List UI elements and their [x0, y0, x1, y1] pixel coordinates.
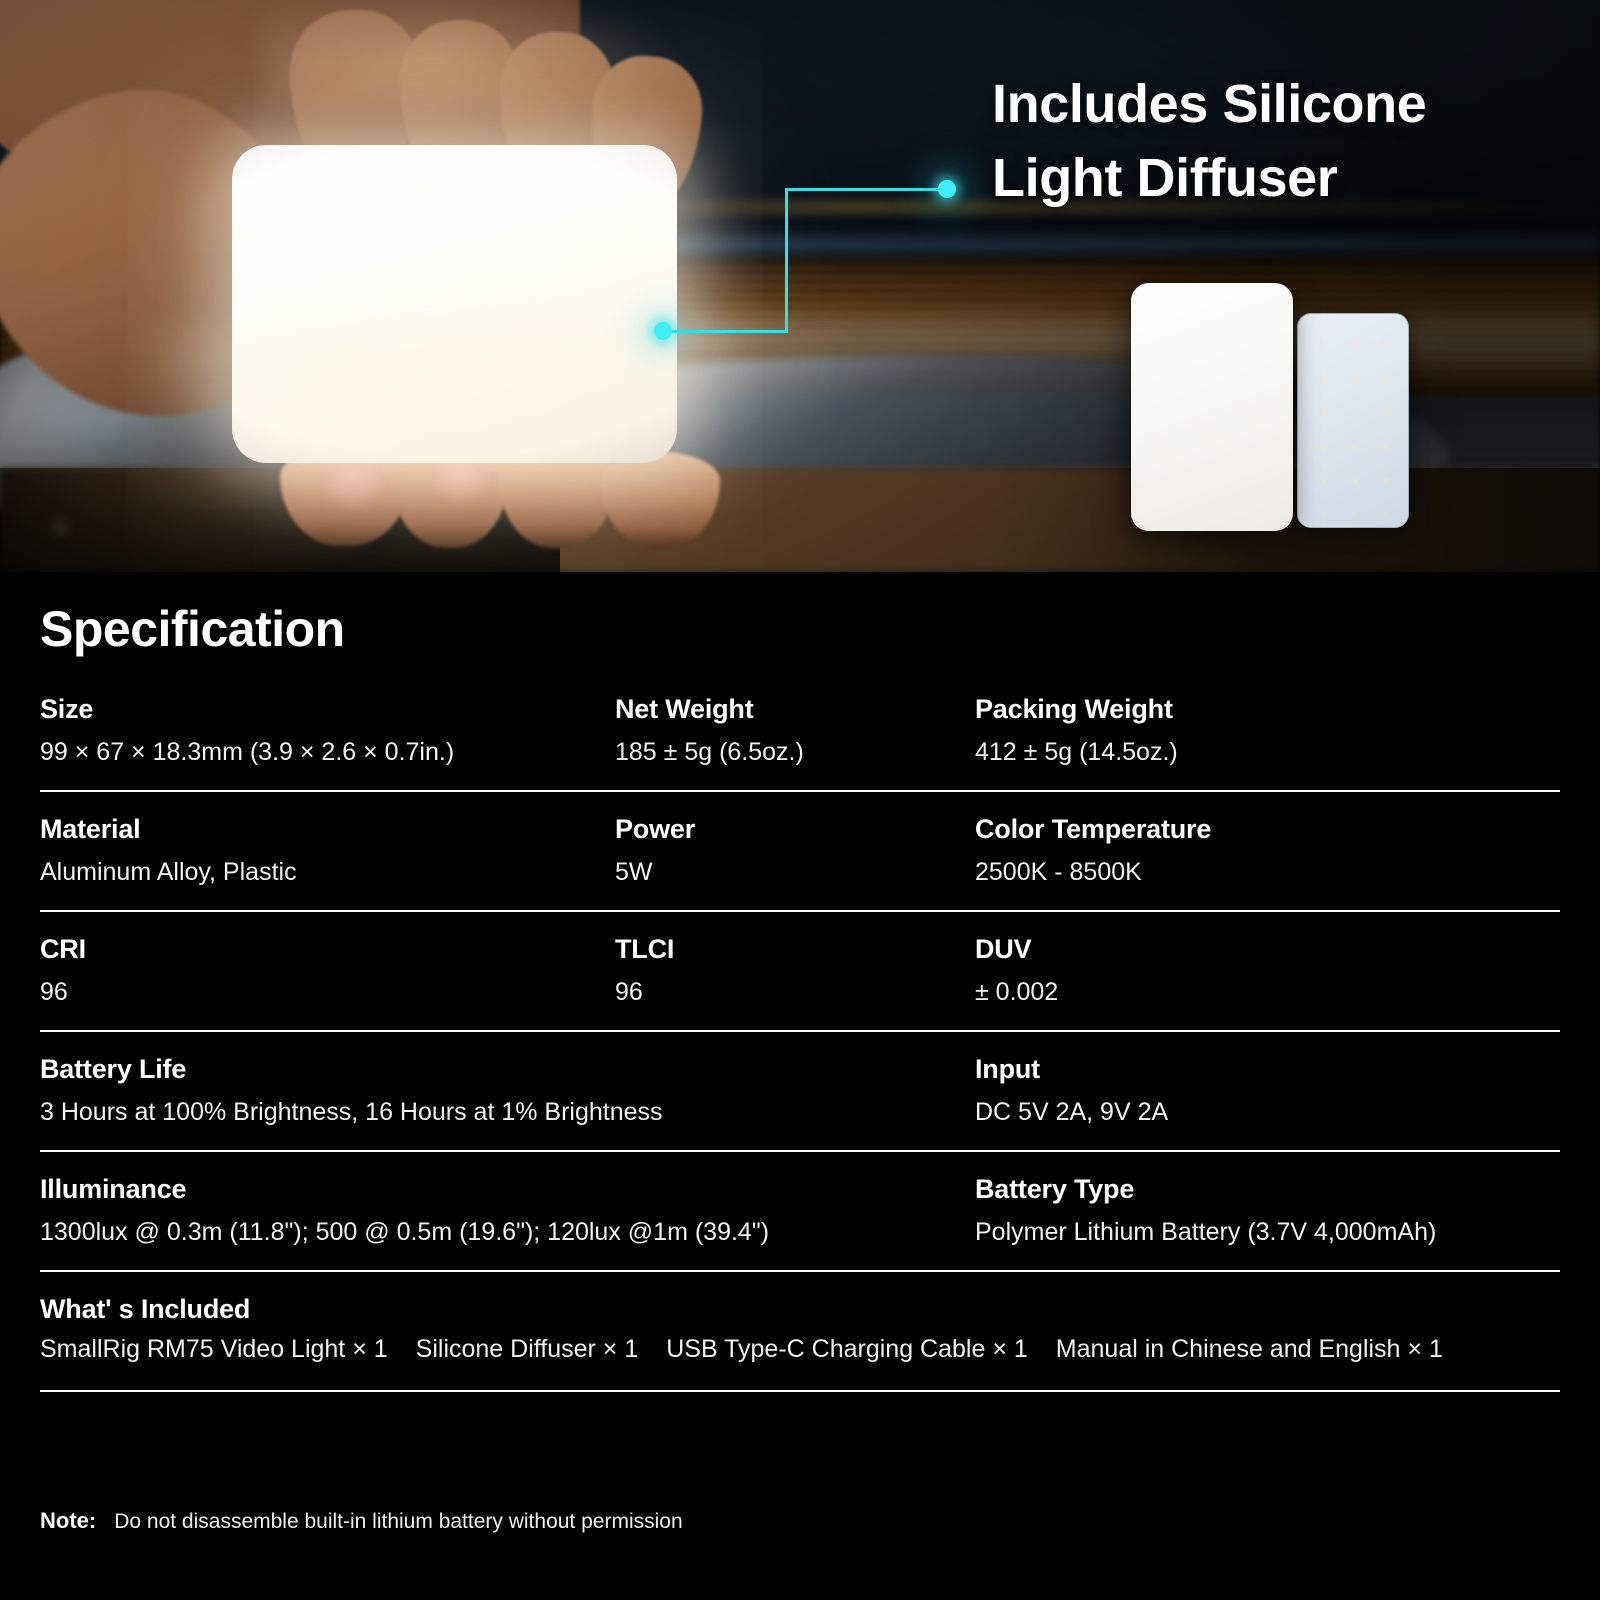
spec-cell: Net Weight 185 ± 5g (6.5oz.) — [615, 694, 804, 767]
spec-key: Power — [615, 814, 695, 845]
footnote-label: Note: — [40, 1508, 96, 1534]
spec-key: Battery Type — [975, 1174, 1436, 1205]
spec-key: TLCI — [615, 934, 674, 965]
led-array — [1306, 326, 1400, 515]
spec-key: Color Temperature — [975, 814, 1211, 845]
included-items-list: SmallRig RM75 Video Light × 1 Silicone D… — [40, 1335, 1443, 1364]
hand-highlight — [260, 0, 680, 110]
callout-line-horizontal-lower — [660, 330, 788, 333]
spec-cell: TLCI 96 — [615, 934, 674, 1007]
spec-key: Input — [975, 1054, 1168, 1085]
spec-value: 412 ± 5g (14.5oz.) — [975, 738, 1178, 767]
hero-headline-line-1: Includes Silicone — [992, 68, 1552, 142]
spec-key: Packing Weight — [975, 694, 1178, 725]
spec-value: 3 Hours at 100% Brightness, 16 Hours at … — [40, 1098, 663, 1127]
spec-key: CRI — [40, 934, 86, 965]
hero-headline-line-2: Light Diffuser — [992, 142, 1552, 216]
spec-value: ± 0.002 — [975, 978, 1058, 1007]
spec-key: What' s Included — [40, 1294, 250, 1325]
list-item: Silicone Diffuser × 1 — [416, 1335, 639, 1364]
table-row: Material Aluminum Alloy, Plastic Power 5… — [40, 814, 1560, 912]
spec-key: Size — [40, 694, 454, 725]
spec-cell: Illuminance 1300lux @ 0.3m (11.8"); 500 … — [40, 1174, 769, 1247]
led-light-panel — [1297, 313, 1409, 528]
spec-cell: What' s Included — [40, 1294, 250, 1325]
callout-dot-on-product-icon — [654, 322, 672, 340]
silicone-diffuser-panel — [1131, 283, 1293, 531]
footnote-text: Do not disassemble built-in lithium batt… — [114, 1510, 682, 1534]
specification-section: Specification Size 99 × 67 × 18.3mm (3.9… — [0, 572, 1600, 1600]
spec-key: DUV — [975, 934, 1058, 965]
spec-value: 99 × 67 × 18.3mm (3.9 × 2.6 × 0.7in.) — [40, 738, 454, 767]
spec-key: Battery Life — [40, 1054, 663, 1085]
fingernail — [430, 458, 496, 504]
product-spec-page: Includes Silicone Light Diffuser Specifi… — [0, 0, 1600, 1600]
spec-value: 185 ± 5g (6.5oz.) — [615, 738, 804, 767]
spec-value: 2500K - 8500K — [975, 858, 1211, 887]
callout-dot-at-label-icon — [938, 180, 956, 198]
spec-cell: DUV ± 0.002 — [975, 934, 1058, 1007]
spec-key: Net Weight — [615, 694, 804, 725]
video-light-with-diffuser — [232, 145, 677, 463]
spec-cell: Material Aluminum Alloy, Plastic — [40, 814, 297, 887]
spec-cell: Size 99 × 67 × 18.3mm (3.9 × 2.6 × 0.7in… — [40, 694, 454, 767]
callout-line-horizontal-upper — [785, 188, 947, 191]
spec-cell: Color Temperature 2500K - 8500K — [975, 814, 1211, 887]
spec-value: Aluminum Alloy, Plastic — [40, 858, 297, 887]
spec-cell: Battery Type Polymer Lithium Battery (3.… — [975, 1174, 1436, 1247]
spec-cell: Battery Life 3 Hours at 100% Brightness,… — [40, 1054, 663, 1127]
spec-cell: CRI 96 — [40, 934, 86, 1007]
spec-cell: Input DC 5V 2A, 9V 2A — [975, 1054, 1168, 1127]
table-row-whats-included: What' s Included SmallRig RM75 Video Lig… — [40, 1294, 1560, 1392]
table-row: Illuminance 1300lux @ 0.3m (11.8"); 500 … — [40, 1174, 1560, 1272]
spec-key: Material — [40, 814, 297, 845]
table-row: Size 99 × 67 × 18.3mm (3.9 × 2.6 × 0.7in… — [40, 694, 1560, 792]
footnote: Note: Do not disassemble built-in lithiu… — [40, 1508, 683, 1534]
fingernail — [320, 462, 390, 510]
list-item: USB Type-C Charging Cable × 1 — [666, 1335, 1028, 1364]
specification-table: Size 99 × 67 × 18.3mm (3.9 × 2.6 × 0.7in… — [40, 694, 1560, 1414]
spec-value: 5W — [615, 858, 695, 887]
callout-line-vertical — [785, 188, 788, 333]
section-heading: Specification — [40, 600, 345, 658]
spec-cell: Power 5W — [615, 814, 695, 887]
spec-value: DC 5V 2A, 9V 2A — [975, 1098, 1168, 1127]
spec-key: Illuminance — [40, 1174, 769, 1205]
spec-value: 96 — [40, 978, 86, 1007]
list-item: SmallRig RM75 Video Light × 1 — [40, 1335, 388, 1364]
spec-value: 96 — [615, 978, 674, 1007]
list-item: Manual in Chinese and English × 1 — [1056, 1335, 1443, 1364]
table-row: CRI 96 TLCI 96 DUV ± 0.002 — [40, 934, 1560, 1032]
spec-value: 1300lux @ 0.3m (11.8"); 500 @ 0.5m (19.6… — [40, 1218, 769, 1247]
table-row: Battery Life 3 Hours at 100% Brightness,… — [40, 1054, 1560, 1152]
finger — [600, 452, 720, 548]
hero-headline: Includes Silicone Light Diffuser — [992, 68, 1552, 216]
hero-product-photo: Includes Silicone Light Diffuser — [0, 0, 1600, 572]
spec-value: Polymer Lithium Battery (3.7V 4,000mAh) — [975, 1218, 1436, 1247]
spec-cell: Packing Weight 412 ± 5g (14.5oz.) — [975, 694, 1178, 767]
